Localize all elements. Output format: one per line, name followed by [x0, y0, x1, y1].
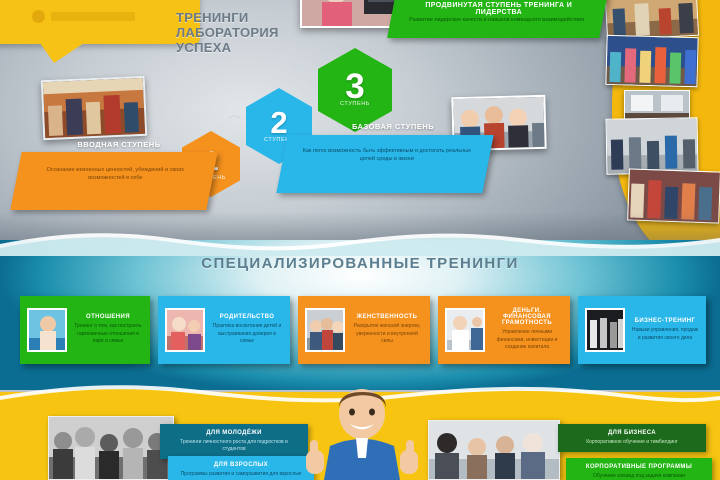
smiling-man-thumbs-up-icon — [300, 388, 424, 480]
photo-seminar — [41, 76, 148, 140]
card-title: Отношения — [73, 314, 143, 320]
panel-step-3-body: Развитие лидерских качеств и навыков ком… — [405, 16, 589, 24]
photo-collage — [606, 0, 702, 224]
bottom-banner-title: Для бизнеса — [568, 430, 696, 436]
card-body: Практика воспитания детей и выстраивания… — [211, 323, 283, 346]
card-thumbnail — [165, 308, 205, 352]
training-card[interactable]: Отношения Тренинг о том, как построить г… — [20, 296, 150, 364]
logo-bar — [51, 12, 135, 21]
hexagon-step-3-caption: Ступень — [340, 101, 370, 107]
training-card[interactable]: Деньги. Финансовая грамотность Управлени… — [438, 296, 570, 364]
bottom-banner[interactable]: Для молодёжи Тренинги личностного роста … — [160, 424, 308, 459]
logo-bubble — [0, 0, 200, 44]
collage-photo — [627, 168, 720, 223]
bottom-banner-title: Для молодёжи — [170, 430, 298, 436]
panel-step-3: Продвинутая ступень тренинга и лидерства… — [387, 0, 609, 38]
photo-crowd-bw — [48, 416, 174, 480]
panel-step-1-body: Осознание жизненных ценностей, убеждений… — [29, 166, 201, 182]
panel-step-2-label: Базовая ступень — [300, 122, 486, 131]
card-body: Тренинг о том, как построить гармоничные… — [73, 323, 143, 346]
card-thumbnail — [445, 308, 485, 352]
bottom-banner-title: Для взрослых — [178, 462, 304, 468]
wave-divider-top — [0, 228, 720, 256]
infographic-canvas: Тренинги Лаборатория Успеха — [0, 0, 720, 480]
card-thumbnail — [27, 308, 67, 352]
hexagon-step-2-number: 2 — [270, 110, 287, 136]
bottom-banner-body: Корпоративное обучение и тимбилдинг — [568, 439, 696, 446]
training-cards: Отношения Тренинг о том, как построить г… — [0, 296, 720, 368]
section-title-specialized: Специализированные тренинги — [0, 255, 720, 272]
training-card[interactable]: Женственность Раскрытие женской энергии,… — [298, 296, 430, 364]
card-body: Управление личными финансами, инвестиции… — [491, 329, 563, 352]
card-title: Деньги. Финансовая грамотность — [491, 308, 563, 326]
training-card[interactable]: Родительство Практика воспитания детей и… — [158, 296, 290, 364]
card-text: Отношения Тренинг о том, как построить г… — [73, 314, 143, 346]
hexagon-step-3[interactable]: 3 Ступень — [318, 48, 392, 132]
card-thumbnail — [305, 308, 345, 352]
mascot-man — [300, 388, 424, 480]
card-title: Бизнес-тренинг — [631, 318, 699, 324]
hexagon-step-3-number: 3 — [345, 74, 364, 100]
card-text: Женственность Раскрытие женской энергии,… — [351, 314, 423, 346]
photo-seminar-image — [43, 78, 145, 138]
card-thumbnail — [585, 308, 625, 352]
panel-step-1: Осознание жизненных ценностей, убеждений… — [10, 152, 217, 210]
card-text: Деньги. Финансовая грамотность Управлени… — [491, 308, 563, 352]
panel-step-2: Как легко возможность быть эффективным и… — [276, 135, 493, 193]
logo-dot-icon — [32, 10, 45, 23]
card-text: Бизнес-тренинг Навыки управления, продаж… — [631, 318, 699, 342]
card-body: Раскрытие женской энергии, уверенности и… — [351, 323, 423, 346]
card-title: Женственность — [351, 314, 423, 320]
bottom-banner[interactable]: Для бизнеса Корпоративное обучение и тим… — [558, 424, 706, 452]
card-body: Навыки управления, продаж и развития сво… — [631, 327, 699, 342]
bottom-banner[interactable]: Корпоративные программы Обучение команд … — [566, 458, 712, 480]
arrow-icon: ⌒ — [292, 62, 305, 81]
training-card[interactable]: Бизнес-тренинг Навыки управления, продаж… — [578, 296, 706, 364]
bottom-banner-body: Обучение команд под задачи компании — [576, 473, 702, 480]
panel-step-1-label: Вводная ступень — [34, 140, 204, 149]
photo-audience — [428, 420, 560, 480]
collage-photo — [606, 117, 699, 175]
panel-step-3-title: Продвинутая ступень тренинга и лидерства — [407, 2, 591, 16]
collage-photo — [624, 90, 690, 120]
logo-bubble-marks — [32, 10, 135, 23]
bottom-banner-body: Программы развития и саморазвития для вз… — [178, 471, 304, 478]
collage-photo — [605, 35, 698, 87]
arrow-icon: ⌒ — [228, 112, 241, 131]
panel-step-2-body: Как легко возможность быть эффективным и… — [298, 147, 476, 163]
bottom-banner[interactable]: Для взрослых Программы развития и самора… — [168, 456, 314, 480]
card-title: Родительство — [211, 314, 283, 320]
bottom-banner-body: Тренинги личностного роста для подростко… — [170, 439, 298, 453]
steps-section: Тренинги Лаборатория Успеха — [0, 0, 720, 252]
card-text: Родительство Практика воспитания детей и… — [211, 314, 283, 346]
bottom-banner-title: Корпоративные программы — [576, 464, 702, 470]
